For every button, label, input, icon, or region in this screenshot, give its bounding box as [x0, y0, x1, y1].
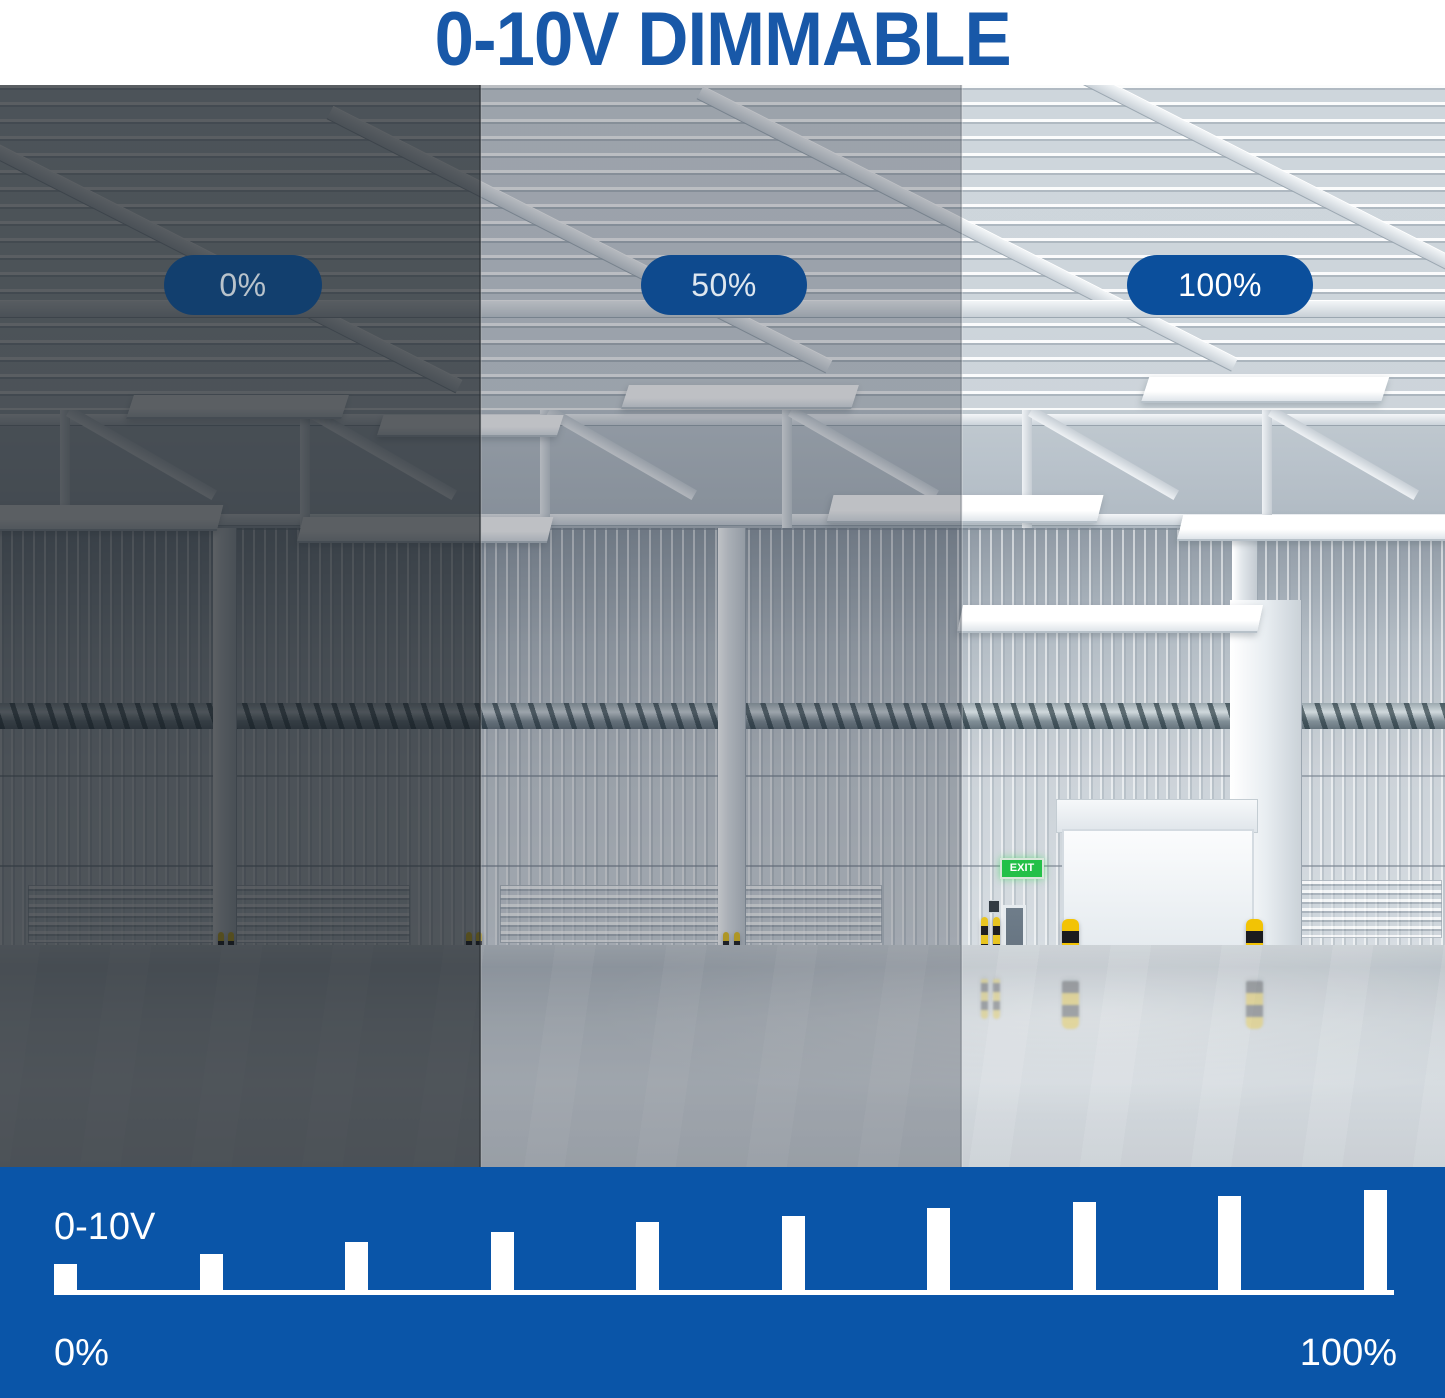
- wall-louver: [500, 885, 882, 943]
- scale-tick: [636, 1222, 659, 1290]
- wall-louver: [1290, 880, 1442, 938]
- header: 0-10V DIMMABLE: [0, 0, 1445, 85]
- scale-min-label: 0%: [54, 1334, 109, 1372]
- truss-post: [300, 410, 310, 530]
- warehouse-scene: EXIT: [0, 85, 1445, 1167]
- badge-0-percent-label: 0%: [219, 269, 266, 301]
- support-column: [718, 528, 746, 953]
- scale-tick: [927, 1208, 950, 1290]
- bollard-reflection: [993, 979, 1000, 1019]
- warehouse-photo: EXIT: [0, 85, 1445, 1167]
- badge-50-percent[interactable]: 50%: [641, 255, 807, 315]
- scale-tick: [491, 1232, 514, 1290]
- bollard-reflection: [1062, 981, 1079, 1029]
- support-column: [213, 528, 237, 953]
- led-light-fixture: [0, 505, 223, 531]
- led-light-fixture: [376, 415, 563, 437]
- led-light-fixture: [957, 605, 1263, 633]
- led-light-fixture: [1141, 377, 1389, 403]
- warehouse-floor: [0, 945, 1445, 1167]
- scale-tick: [54, 1264, 77, 1290]
- door-number-plate: [988, 900, 1000, 913]
- scale-tick: [782, 1216, 805, 1290]
- led-light-fixture: [827, 495, 1104, 523]
- led-light-fixture: [126, 395, 349, 419]
- badge-0-percent[interactable]: 0%: [164, 255, 322, 315]
- floor-reflection: [0, 945, 1445, 1167]
- led-light-fixture: [621, 385, 859, 409]
- dimming-infographic: 0-10V DIMMABLE: [0, 0, 1445, 1398]
- truss-post: [1262, 410, 1272, 530]
- badge-50-percent-label: 50%: [691, 269, 757, 301]
- led-light-fixture: [297, 517, 553, 543]
- scale-tick: [345, 1242, 368, 1290]
- badge-100-percent[interactable]: 100%: [1127, 255, 1313, 315]
- bollard-reflection: [981, 979, 988, 1019]
- exit-sign-label: EXIT: [1010, 863, 1034, 874]
- scale-ticks: [54, 1190, 1399, 1290]
- led-light-fixture: [1177, 515, 1445, 541]
- page-title: 0-10V DIMMABLE: [434, 2, 1010, 84]
- scale-max-label: 100%: [1300, 1334, 1397, 1372]
- scale-tick: [200, 1254, 223, 1290]
- badge-100-percent-label: 100%: [1178, 269, 1262, 301]
- scale-track[interactable]: [54, 1290, 1394, 1295]
- scale-tick: [1364, 1190, 1387, 1290]
- truss-post: [782, 410, 792, 530]
- scale-tick: [1218, 1196, 1241, 1290]
- scale-tick: [1073, 1202, 1096, 1290]
- exit-sign: EXIT: [1000, 858, 1044, 879]
- roller-door-header: [1056, 799, 1258, 833]
- bollard-reflection: [1246, 981, 1263, 1029]
